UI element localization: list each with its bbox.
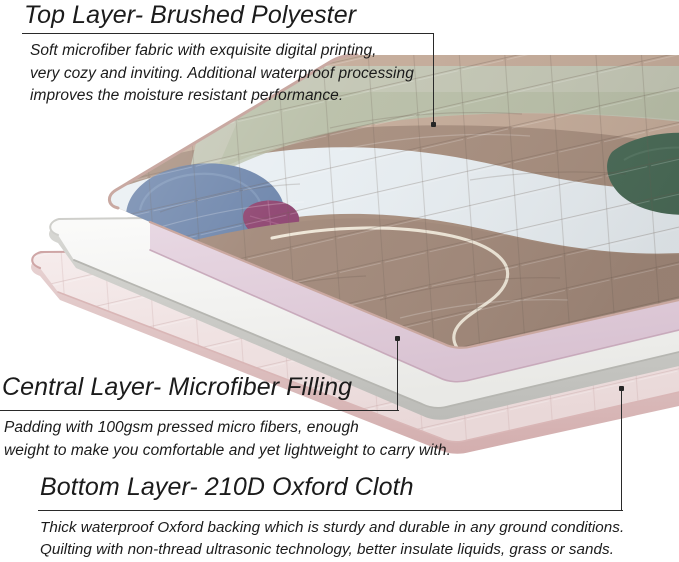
callout-rule-bottom-layer: [38, 510, 623, 511]
callout-central-layer: Central Layer- Microfiber Filling Paddin…: [0, 372, 679, 462]
leader-dot-central-layer: [395, 336, 400, 341]
callout-title-top-layer: Top Layer- Brushed Polyester: [24, 0, 356, 30]
callout-body-top-layer: Soft microfiber fabric with exquisite di…: [30, 40, 414, 108]
callout-body-bottom-layer: Thick waterproof Oxford backing which is…: [40, 517, 624, 562]
callout-body-line: very cozy and inviting. Additional water…: [30, 63, 414, 86]
infographic-canvas: Top Layer- Brushed Polyester Soft microf…: [0, 0, 679, 555]
callout-body-line: weight to make you comfortable and yet l…: [4, 440, 451, 463]
callout-top-layer: Top Layer- Brushed Polyester Soft microf…: [0, 0, 679, 140]
callout-rule-central-layer: [0, 410, 399, 411]
callout-title-central-layer: Central Layer- Microfiber Filling: [2, 372, 352, 402]
callout-body-central-layer: Padding with 100gsm pressed micro fibers…: [4, 417, 451, 462]
callout-body-line: Quilting with non-thread ultrasonic tech…: [40, 539, 624, 561]
callout-title-bottom-layer: Bottom Layer- 210D Oxford Cloth: [40, 472, 414, 502]
callout-bottom-layer: Bottom Layer- 210D Oxford Cloth Thick wa…: [0, 472, 679, 555]
callout-body-line: improves the moisture resistant performa…: [30, 85, 414, 108]
callout-rule-top-layer: [22, 33, 434, 34]
callout-body-line: Soft microfiber fabric with exquisite di…: [30, 40, 414, 63]
callout-body-line: Padding with 100gsm pressed micro fibers…: [4, 417, 451, 440]
callout-body-line: Thick waterproof Oxford backing which is…: [40, 517, 624, 539]
